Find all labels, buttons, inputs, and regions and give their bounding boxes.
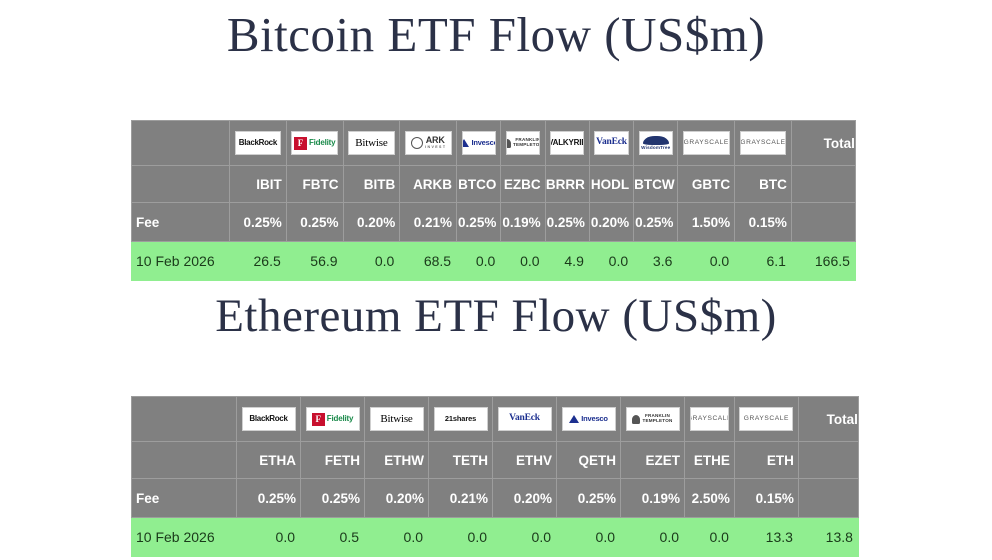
fee-cell-ezbc: 0.19% [501, 203, 545, 242]
ticker-cell-ibit: IBIT [230, 166, 287, 203]
grayscale-logo-wordmark: GRAYSCALE [740, 140, 785, 147]
ethereum-ticker-row: ETHAFETHETHWTETHETHVQETHEZETETHEETH [132, 442, 859, 479]
issuer-logo-cell: VanEck [493, 397, 557, 442]
grayscale-logo-icon: GRAYSCALE [690, 407, 730, 431]
ticker-cell-qeth: QETH [557, 442, 621, 479]
fee-cell-etha: 0.25% [237, 479, 301, 518]
flow-cell-qeth: 0.0 [557, 518, 621, 557]
flow-cell-hodl: 0.0 [589, 242, 633, 281]
issuer-logo-cell: VanEck [589, 121, 633, 166]
ethereum-fee-label: Fee [132, 479, 237, 518]
ticker-cell-ethe: ETHE [685, 442, 735, 479]
grayscale-logo-icon: GRAYSCALE [739, 407, 793, 431]
bitwise-logo-wordmark: Bitwise [355, 138, 387, 149]
ticker-cell-eth: ETH [734, 442, 798, 479]
ticker-cell-btco: BTCO [457, 166, 501, 203]
fee-cell-feth: 0.25% [301, 479, 365, 518]
fidelity-logo-group: FFidelity [312, 413, 353, 426]
flow-cell-ethw: 0.0 [365, 518, 429, 557]
ethereum-fee-row: Fee 0.25%0.25%0.20%0.21%0.20%0.25%0.19%2… [132, 479, 859, 518]
ticker-row-corner-cell [132, 442, 237, 479]
bitcoin-section-title: Bitcoin ETF Flow (US$m) [0, 4, 992, 66]
issuer-logo-cell: Bitwise [343, 121, 400, 166]
franklin-logo-icon: FRANKLINTEMPLETON [506, 131, 540, 155]
issuer-logo-cell: FRANKLINTEMPLETON [621, 397, 685, 442]
blackrock-logo-icon: BlackRock [242, 407, 296, 431]
valkyrie-logo-icon: VALKYRIE [550, 131, 584, 155]
ticker-cell-ethv: ETHV [493, 442, 557, 479]
flow-cell-ethe: 0.0 [685, 518, 735, 557]
blackrock-logo-icon: BlackRock [235, 131, 282, 155]
fidelity-logo-group: FFidelity [294, 137, 335, 150]
invesco-logo-group: Invesco [569, 415, 608, 423]
fee-cell-gbtc: 1.50% [678, 203, 735, 242]
bitcoin-fee-row: Fee 0.25%0.25%0.20%0.21%0.25%0.19%0.25%0… [132, 203, 856, 242]
ticker-cell-fbtc: FBTC [286, 166, 343, 203]
ticker-cell-teth: TETH [429, 442, 493, 479]
flow-cell-fbtc: 56.9 [286, 242, 343, 281]
ethereum-total-ticker-cell [798, 442, 858, 479]
invesco-logo-icon: Invesco [562, 407, 616, 431]
ark-logo-wordmark: I N V E S T [425, 146, 445, 150]
ticker-cell-btcw: BTCW [634, 166, 678, 203]
ethereum-section-title: Ethereum ETF Flow (US$m) [0, 286, 992, 346]
vaneck-logo-icon: VanEck [498, 407, 552, 431]
franklin-logo-wordmark: TEMPLETON [642, 419, 672, 424]
flow-cell-brrr: 4.9 [545, 242, 589, 281]
flow-cell-btc: 6.1 [735, 242, 792, 281]
flow-cell-ezet: 0.0 [621, 518, 685, 557]
flow-cell-btco: 0.0 [457, 242, 501, 281]
fee-cell-arkb: 0.21% [400, 203, 457, 242]
ark-logo-icon: ARKI N V E S T [405, 131, 452, 155]
franklin-logo-icon: FRANKLINTEMPLETON [626, 407, 680, 431]
issuer-logo-cell: VALKYRIE [545, 121, 589, 166]
bitcoin-etf-flow-table-container: BlackRockFFidelityBitwiseARKI N V E S TI… [131, 120, 855, 281]
grayscale-logo-icon: GRAYSCALE [740, 131, 787, 155]
ethereum-etf-flow-table-container: BlackRockFFidelityBitwise21sharesVanEckI… [131, 396, 858, 557]
invesco-logo-icon: Invesco [462, 131, 496, 155]
issuer-logo-cell: BlackRock [230, 121, 287, 166]
fidelity-logo-wordmark: Fidelity [309, 139, 335, 147]
vaneck-logo-wordmark: VanEck [509, 414, 540, 424]
franklin-logo-group: FRANKLINTEMPLETON [632, 414, 672, 423]
blackrock-logo-wordmark: BlackRock [249, 415, 287, 423]
wisdomtree-logo-group: WisdomTree [641, 136, 670, 151]
flow-cell-ethv: 0.0 [493, 518, 557, 557]
issuer-logo-cell: 21shares [429, 397, 493, 442]
ticker-cell-brrr: BRRR [545, 166, 589, 203]
bitwise-logo-wordmark: Bitwise [380, 414, 412, 425]
bitcoin-total-ticker-cell [791, 166, 855, 203]
ethereum-total-fee-cell [798, 479, 858, 518]
fidelity-logo-wordmark: Fidelity [327, 415, 353, 423]
ticker-cell-ezbc: EZBC [501, 166, 545, 203]
vaneck-logo-wordmark: VanEck [596, 138, 627, 148]
ark-logo-group: ARKI N V E S T [411, 136, 445, 150]
issuer-logo-cell: GRAYSCALE [685, 397, 735, 442]
fidelity-logo-icon: FFidelity [306, 407, 360, 431]
fee-cell-ethv: 0.20% [493, 479, 557, 518]
fidelity-logo-mark: F [312, 413, 325, 426]
fee-cell-btcw: 0.25% [634, 203, 678, 242]
flow-cell-ibit: 26.5 [230, 242, 287, 281]
21shares-logo-icon: 21shares [434, 407, 488, 431]
flow-cell-btcw: 3.6 [634, 242, 678, 281]
invesco-logo-wordmark: Invesco [471, 139, 495, 147]
issuer-logo-cell: FFidelity [301, 397, 365, 442]
logo-row-corner-cell [132, 397, 237, 442]
ticker-row-corner-cell [132, 166, 230, 203]
flow-cell-teth: 0.0 [429, 518, 493, 557]
blackrock-logo-wordmark: BlackRock [239, 139, 277, 147]
issuer-logo-cell: GRAYSCALE [735, 121, 792, 166]
wisdomtree-logo-icon: WisdomTree [639, 131, 673, 155]
bitcoin-etf-flow-table: BlackRockFFidelityBitwiseARKI N V E S TI… [131, 120, 856, 281]
fee-cell-ethe: 2.50% [685, 479, 735, 518]
franklin-logo-wordmark: TEMPLETON [513, 143, 540, 148]
ticker-cell-ezet: EZET [621, 442, 685, 479]
ticker-cell-feth: FETH [301, 442, 365, 479]
grayscale-logo-wordmark: GRAYSCALE [744, 416, 789, 423]
franklin-logo-text-stack: FRANKLINTEMPLETON [513, 138, 540, 147]
fee-cell-bitb: 0.20% [343, 203, 400, 242]
ticker-cell-gbtc: GBTC [678, 166, 735, 203]
bitcoin-flow-data-row: 10 Feb 2026 26.556.90.068.50.00.04.90.03… [132, 242, 856, 281]
invesco-logo-mark [569, 415, 579, 423]
franklin-logo-mark [506, 139, 511, 148]
ticker-cell-hodl: HODL [589, 166, 633, 203]
fee-cell-brrr: 0.25% [545, 203, 589, 242]
invesco-logo-mark [462, 139, 470, 147]
issuer-logo-cell: GRAYSCALE [734, 397, 798, 442]
invesco-logo-wordmark: Invesco [581, 415, 608, 423]
fee-cell-ibit: 0.25% [230, 203, 287, 242]
bitwise-logo-icon: Bitwise [348, 131, 395, 155]
ticker-cell-bitb: BITB [343, 166, 400, 203]
issuer-logo-cell: BlackRock [237, 397, 301, 442]
ethereum-flow-data-row: 10 Feb 2026 0.00.50.00.00.00.00.00.013.3… [132, 518, 859, 557]
bitcoin-ticker-row: IBITFBTCBITBARKBBTCOEZBCBRRRHODLBTCWGBTC… [132, 166, 856, 203]
issuer-logo-cell: Invesco [457, 121, 501, 166]
fee-cell-btc: 0.15% [735, 203, 792, 242]
ark-logo-wordmark: ARK [426, 136, 445, 145]
bitcoin-date-label: 10 Feb 2026 [132, 242, 230, 281]
bitwise-logo-icon: Bitwise [370, 407, 424, 431]
fee-cell-ethw: 0.20% [365, 479, 429, 518]
issuer-logo-cell: FFidelity [286, 121, 343, 166]
flow-cell-eth: 13.3 [734, 518, 798, 557]
bitcoin-total-header: Total [791, 121, 855, 166]
flow-cell-arkb: 68.5 [400, 242, 457, 281]
21shares-logo-wordmark: 21shares [445, 415, 476, 422]
flow-cell-gbtc: 0.0 [678, 242, 735, 281]
flow-cell-feth: 0.5 [301, 518, 365, 557]
valkyrie-logo-wordmark: VALKYRIE [550, 139, 584, 147]
ticker-cell-etha: ETHA [237, 442, 301, 479]
fidelity-logo-mark: F [294, 137, 307, 150]
fee-cell-hodl: 0.20% [589, 203, 633, 242]
franklin-logo-text-stack: FRANKLINTEMPLETON [642, 414, 672, 423]
bitcoin-issuer-logo-row: BlackRockFFidelityBitwiseARKI N V E S TI… [132, 121, 856, 166]
issuer-logo-cell: GRAYSCALE [678, 121, 735, 166]
fee-cell-ezet: 0.19% [621, 479, 685, 518]
ark-logo-mark [411, 137, 423, 149]
grayscale-logo-wordmark: GRAYSCALE [684, 140, 729, 147]
ethereum-issuer-logo-row: BlackRockFFidelityBitwise21sharesVanEckI… [132, 397, 859, 442]
grayscale-logo-icon: GRAYSCALE [683, 131, 730, 155]
ticker-cell-arkb: ARKB [400, 166, 457, 203]
flow-cell-ezbc: 0.0 [501, 242, 545, 281]
wisdomtree-logo-mark [643, 136, 669, 145]
issuer-logo-cell: Bitwise [365, 397, 429, 442]
ticker-cell-ethw: ETHW [365, 442, 429, 479]
ticker-cell-btc: BTC [735, 166, 792, 203]
issuer-logo-cell: WisdomTree [634, 121, 678, 166]
flow-cell-etha: 0.0 [237, 518, 301, 557]
logo-row-corner-cell [132, 121, 230, 166]
bitcoin-total-flow-value: 166.5 [791, 242, 855, 281]
ethereum-total-flow-value: 13.8 [798, 518, 858, 557]
ark-logo-text-stack: ARKI N V E S T [425, 136, 445, 150]
fidelity-logo-icon: FFidelity [291, 131, 338, 155]
fee-cell-fbtc: 0.25% [286, 203, 343, 242]
issuer-logo-cell: FRANKLINTEMPLETON [501, 121, 545, 166]
issuer-logo-cell: Invesco [557, 397, 621, 442]
franklin-logo-mark [632, 415, 640, 424]
fee-cell-eth: 0.15% [734, 479, 798, 518]
ethereum-date-label: 10 Feb 2026 [132, 518, 237, 557]
ethereum-total-header: Total [798, 397, 858, 442]
grayscale-logo-wordmark: GRAYSCALE [690, 416, 730, 423]
fee-cell-teth: 0.21% [429, 479, 493, 518]
fee-cell-btco: 0.25% [457, 203, 501, 242]
flow-cell-bitb: 0.0 [343, 242, 400, 281]
bitcoin-fee-label: Fee [132, 203, 230, 242]
wisdomtree-logo-wordmark: WisdomTree [641, 146, 670, 151]
issuer-logo-cell: ARKI N V E S T [400, 121, 457, 166]
fee-cell-qeth: 0.25% [557, 479, 621, 518]
invesco-logo-group: Invesco [462, 139, 496, 147]
bitcoin-total-fee-cell [791, 203, 855, 242]
vaneck-logo-icon: VanEck [594, 131, 628, 155]
ethereum-etf-flow-table: BlackRockFFidelityBitwise21sharesVanEckI… [131, 396, 859, 557]
franklin-logo-group: FRANKLINTEMPLETON [506, 138, 540, 147]
